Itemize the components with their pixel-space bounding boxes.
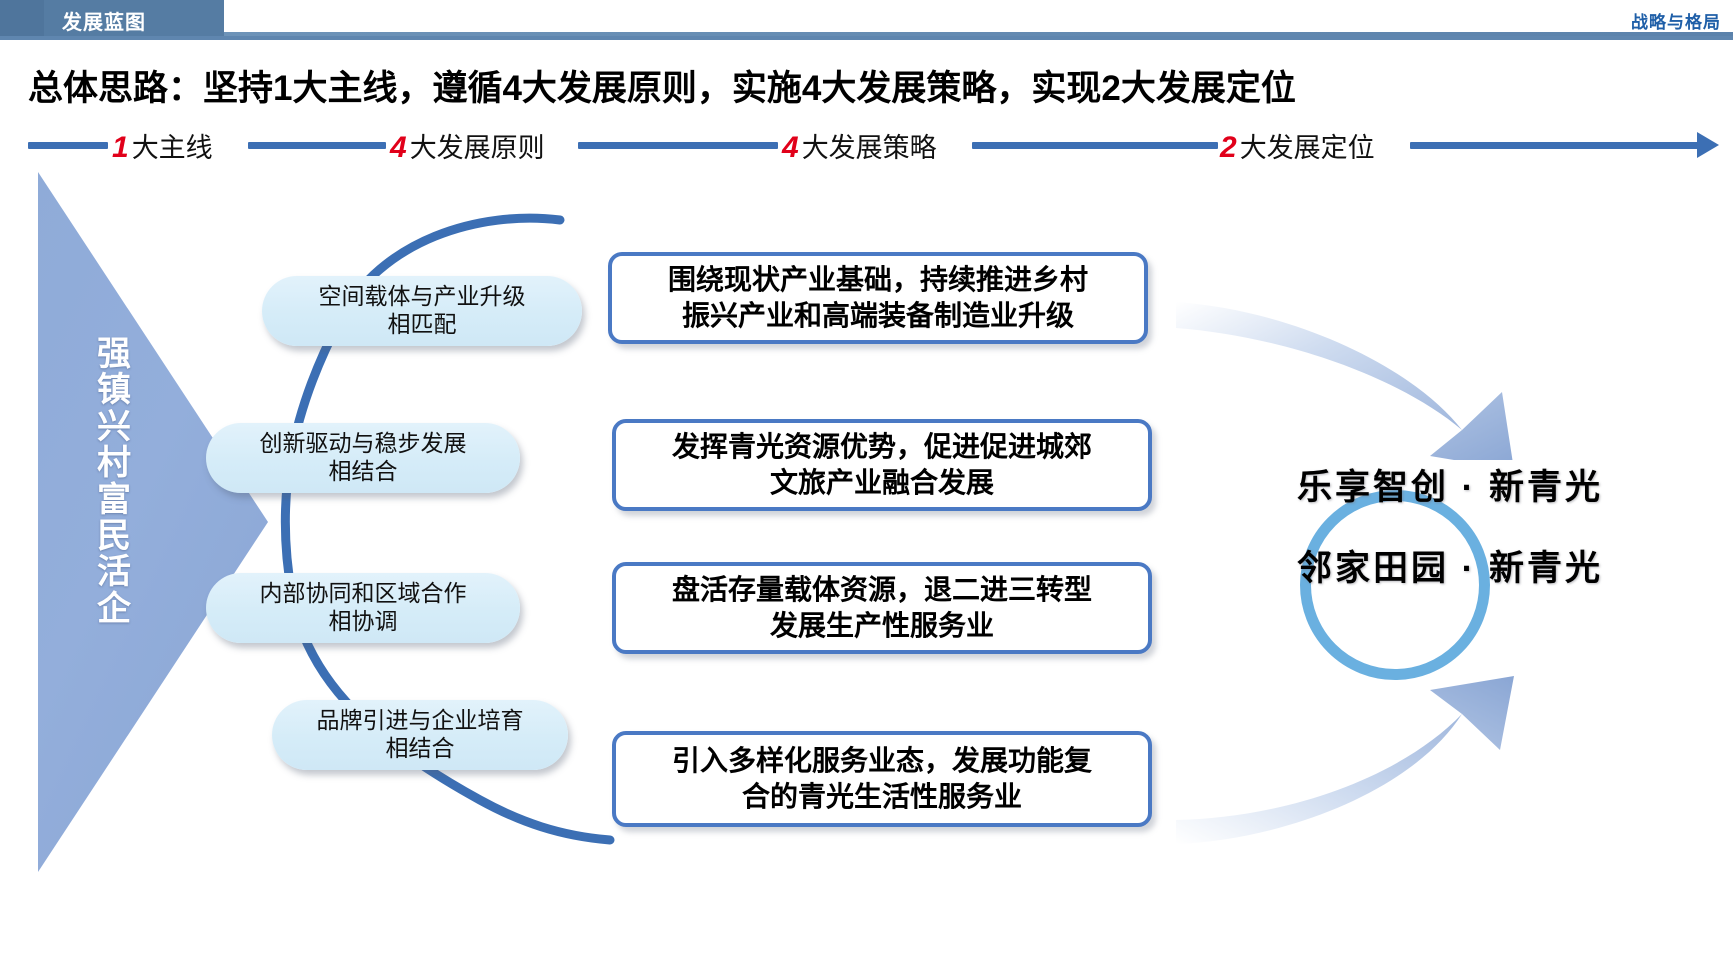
strategy-line1-3: 引入多样化服务业态，发展功能复	[672, 743, 1092, 779]
principle-pill-3[interactable]: 品牌引进与企业培育 相结合	[272, 700, 568, 770]
curved-arrow-up-icon	[1162, 672, 1582, 852]
timeline-segment-2	[578, 142, 778, 149]
positioning-line-1: 邻家田园 · 新青光	[1180, 551, 1720, 586]
principle-line1-3: 品牌引进与企业培育	[317, 707, 524, 735]
strategy-line2-1: 文旅产业融合发展	[672, 465, 1092, 501]
timeline-item-0: 1大主线	[112, 126, 213, 165]
timeline-item-1: 4大发展原则	[390, 126, 545, 165]
timeline-number-2: 4	[782, 131, 802, 164]
timeline-number-0: 1	[112, 131, 132, 164]
timeline-item-3: 2大发展定位	[1220, 126, 1375, 165]
mainline-triangle	[38, 172, 268, 872]
strategy-line2-2: 发展生产性服务业	[672, 608, 1092, 644]
header-rule-lower	[0, 36, 1733, 40]
timeline-arrow-icon	[1697, 132, 1719, 158]
mainline-vertical-label: 强镇兴村富民活企	[86, 336, 142, 627]
timeline-text-2: 大发展策略	[802, 133, 937, 163]
strategy-line1-1: 发挥青光资源优势，促进促进城郊	[672, 429, 1092, 465]
header-tag-label: 发展蓝图	[62, 6, 146, 35]
strategy-line2-3: 合的青光生活性服务业	[672, 779, 1092, 815]
strategy-box-0[interactable]: 围绕现状产业基础，持续推进乡村 振兴产业和高端装备制造业升级	[608, 252, 1148, 344]
timeline-number-1: 4	[390, 131, 410, 164]
strategy-line1-0: 围绕现状产业基础，持续推进乡村	[668, 262, 1088, 298]
strategy-box-2[interactable]: 盘活存量载体资源，退二进三转型 发展生产性服务业	[612, 562, 1152, 654]
principle-pill-2[interactable]: 内部协同和区域合作 相协调	[206, 573, 520, 643]
strategy-line1-2: 盘活存量载体资源，退二进三转型	[672, 572, 1092, 608]
principle-pill-0[interactable]: 空间载体与产业升级 相匹配	[262, 276, 582, 346]
timeline-segment-0	[28, 142, 108, 149]
principle-line2-2: 相协调	[260, 608, 467, 636]
positioning-line-0: 乐享智创 · 新青光	[1180, 470, 1720, 505]
curved-arrow-down-icon	[1162, 280, 1582, 460]
timeline-segment-3	[972, 142, 1218, 149]
timeline-text-1: 大发展原则	[410, 133, 545, 163]
positioning-block: 乐享智创 · 新青光 邻家田园 · 新青光	[1180, 470, 1720, 586]
header-band-tab	[0, 0, 44, 36]
principle-line2-1: 相结合	[260, 458, 467, 486]
principle-pill-1[interactable]: 创新驱动与稳步发展 相结合	[206, 423, 520, 493]
timeline-text-3: 大发展定位	[1240, 133, 1375, 163]
page-header: 发展蓝图 战略与格局	[0, 0, 1733, 40]
strategy-box-1[interactable]: 发挥青光资源优势，促进促进城郊 文旅产业融合发展	[612, 419, 1152, 511]
strategy-box-3[interactable]: 引入多样化服务业态，发展功能复 合的青光生活性服务业	[612, 731, 1152, 827]
timeline-text-0: 大主线	[132, 133, 213, 163]
page-title: 总体思路：坚持1大主线，遵循4大发展原则，实施4大发展策略，实现2大发展定位	[28, 60, 1296, 111]
timeline-segment-1	[248, 142, 386, 149]
timeline-bar: 1大主线 4大发展原则 4大发展策略 2大发展定位	[0, 124, 1733, 168]
timeline-number-3: 2	[1220, 131, 1240, 164]
principle-line2-0: 相匹配	[319, 311, 526, 339]
timeline-segment-4	[1410, 142, 1700, 149]
header-section-label: 战略与格局	[1631, 8, 1721, 33]
principle-line1-0: 空间载体与产业升级	[319, 283, 526, 311]
principle-line2-3: 相结合	[317, 735, 524, 763]
principle-line1-2: 内部协同和区域合作	[260, 580, 467, 608]
principle-line1-1: 创新驱动与稳步发展	[260, 430, 467, 458]
strategy-line2-0: 振兴产业和高端装备制造业升级	[668, 298, 1088, 334]
timeline-item-2: 4大发展策略	[782, 126, 937, 165]
